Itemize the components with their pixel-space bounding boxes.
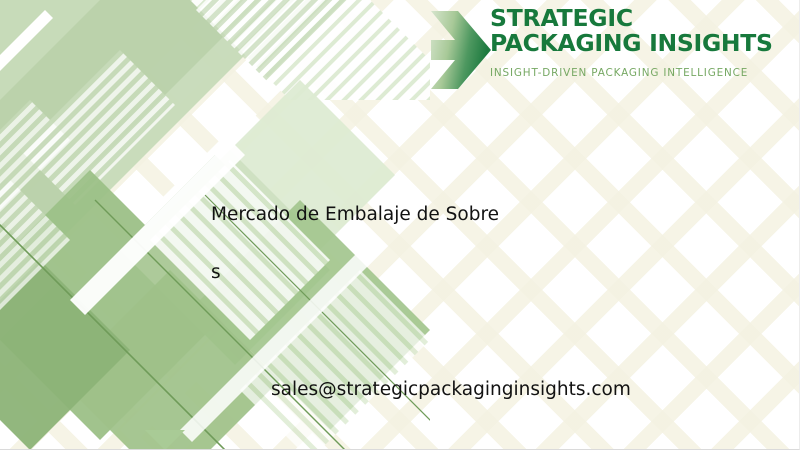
logo-line-1: STRATEGIC xyxy=(490,6,760,31)
report-title: Mercado de Embalaje de Sobre s xyxy=(211,186,511,302)
contact-email: sales@strategicpackaginginsights.com xyxy=(271,379,631,400)
logo-wordmark: STRATEGIC PACKAGING INSIGHTS INSIGHT-DRI… xyxy=(490,6,760,79)
logo-line-2: PACKAGING INSIGHTS xyxy=(490,31,760,56)
brand-logo: STRATEGIC PACKAGING INSIGHTS INSIGHT-DRI… xyxy=(428,6,758,94)
report-cover-slide: STRATEGIC PACKAGING INSIGHTS INSIGHT-DRI… xyxy=(0,0,800,450)
chevron-mark-icon xyxy=(428,8,494,92)
logo-tagline: INSIGHT-DRIVEN PACKAGING INTELLIGENCE xyxy=(490,67,760,79)
